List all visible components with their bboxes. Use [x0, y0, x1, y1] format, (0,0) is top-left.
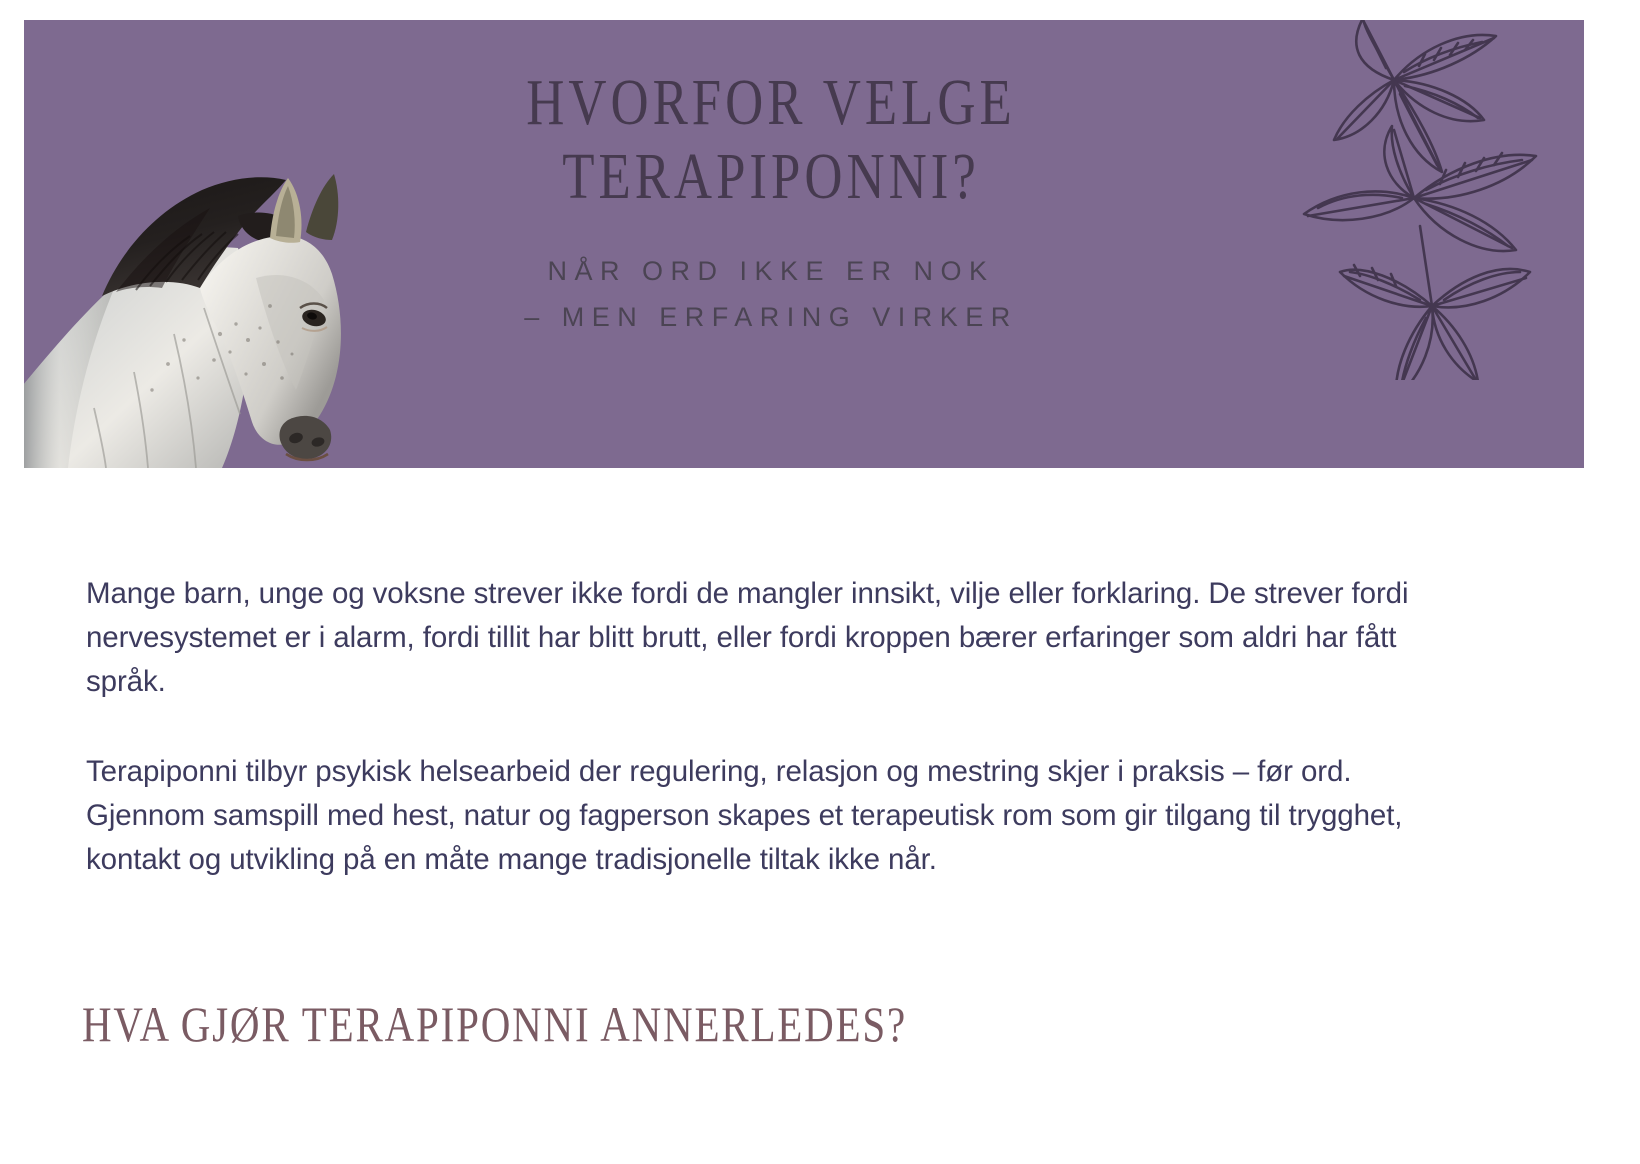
intro-paragraph-1: Mange barn, unge og voksne strever ikke … — [86, 572, 1466, 704]
section-heading-annerledes: HVA GJØR TERAPIPONNI ANNERLEDES? — [82, 996, 907, 1052]
hero-banner: HVORFOR VELGE TERAPIPONNI? NÅR ORD IKKE … — [24, 20, 1584, 468]
botanical-leaves-icon — [1244, 20, 1544, 380]
intro-paragraph-2: Terapiponni tilbyr psykisk helsearbeid d… — [86, 750, 1466, 882]
intro-content: Mange barn, unge og voksne strever ikke … — [86, 572, 1466, 882]
horse-photo — [24, 128, 364, 468]
page-root: HVORFOR VELGE TERAPIPONNI? NÅR ORD IKKE … — [0, 0, 1640, 1164]
